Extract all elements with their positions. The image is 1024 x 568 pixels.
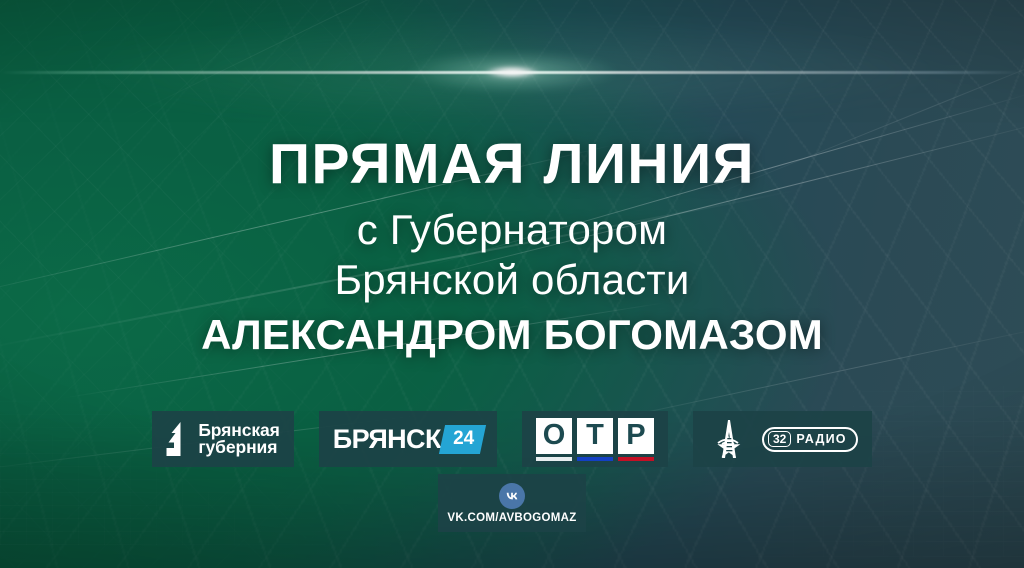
logo-bryansk-24[interactable]: БРЯНСК 24: [319, 411, 497, 467]
logo-otr-letter-r: Р: [618, 418, 654, 454]
logo-guberniya-wordmark: Брянская губерния: [198, 422, 279, 457]
poster-stage: ПРЯМАЯ ЛИНИЯ с Губернатором Брянской обл…: [0, 0, 1024, 568]
logo-radio-32-pill: 32 РАДИО: [762, 427, 858, 452]
logo-guberniya-line2: губерния: [198, 439, 279, 456]
logo-bryansk-24-badge: 24: [439, 425, 486, 454]
logo-otr-underline-blue: [577, 457, 613, 461]
logo-radio-32-word: РАДИО: [796, 432, 853, 446]
logo-otr-letter-o: О: [536, 418, 572, 454]
logo-otr-letter-t: Т: [577, 418, 613, 454]
logo-otr-underline-red: [618, 457, 654, 461]
logo-otr-underline-white: [536, 457, 572, 461]
subtitle-line-1: с Губернатором: [0, 205, 1024, 255]
vk-glyph-icon: [504, 488, 520, 504]
subtitle-line-3: АЛЕКСАНДРОМ БОГОМАЗОМ: [0, 310, 1024, 360]
logo-otr-cell-r: Р: [618, 418, 654, 461]
logo-otr-cell-t: Т: [577, 418, 613, 461]
subtitle-line-2: Брянской области: [0, 255, 1024, 305]
logo-otr[interactable]: О Т Р: [522, 411, 668, 467]
vk-panel[interactable]: VK.COM/AVBOGOMAZ: [438, 474, 586, 532]
logo-bryanskaya-guberniya[interactable]: Брянская губерния: [152, 411, 293, 467]
logo-otr-cell-o: О: [536, 418, 572, 461]
partner-logo-strip: Брянская губерния БРЯНСК 24 О Т Р: [0, 411, 1024, 467]
radio-tower-star-icon: [707, 416, 753, 462]
logo-radio-32[interactable]: 32 РАДИО: [693, 411, 872, 467]
vk-url-label: VK.COM/AVBOGOMAZ: [447, 512, 576, 524]
spruce-mark-icon: [166, 422, 189, 456]
page-title: ПРЯМАЯ ЛИНИЯ: [0, 136, 1024, 193]
title-block: ПРЯМАЯ ЛИНИЯ с Губернатором Брянской обл…: [0, 136, 1024, 360]
vk-logo-icon[interactable]: [499, 483, 525, 509]
logo-radio-32-number: 32: [768, 431, 791, 447]
logo-bryansk-wordmark: БРЯНСК: [333, 424, 441, 455]
